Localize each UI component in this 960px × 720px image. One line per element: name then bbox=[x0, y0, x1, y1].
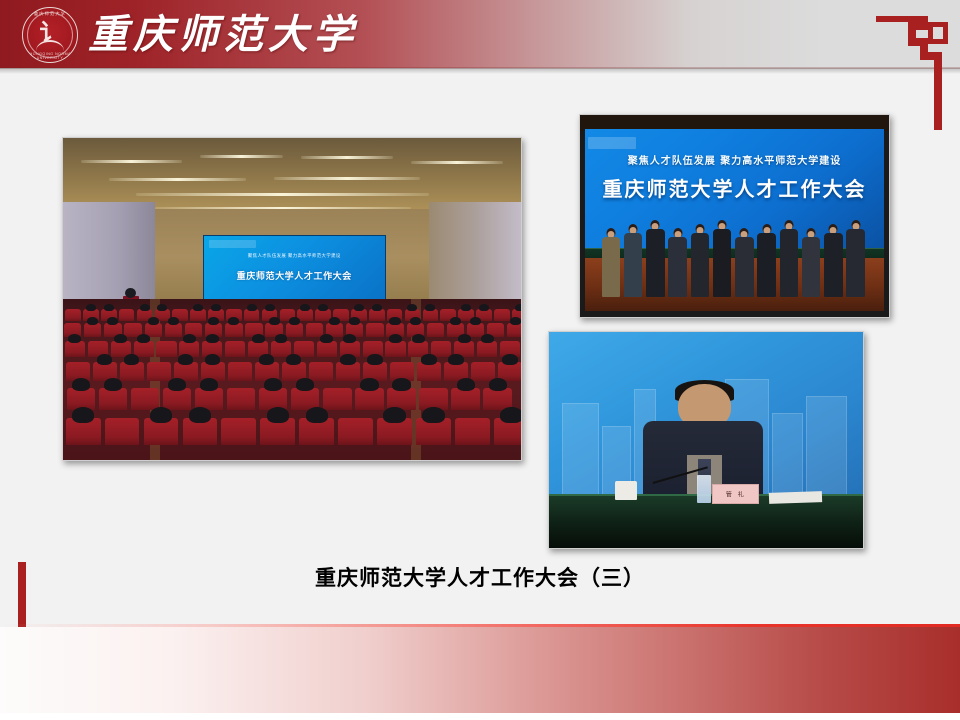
slide-caption: 重庆师范大学人才工作大会（三） bbox=[0, 562, 960, 592]
group-member-body bbox=[735, 237, 754, 297]
speaker-water-bottle bbox=[697, 475, 711, 503]
emblem-arc-top-text: 重庆师范大学 bbox=[23, 11, 77, 17]
group-member-body bbox=[624, 233, 643, 297]
attendee-head bbox=[425, 304, 435, 311]
hall-screen-subtitle: 聚焦人才队伍发展 聚力高水平师范大学建设 bbox=[204, 253, 385, 259]
attendee-head bbox=[189, 407, 211, 423]
attendee-head bbox=[320, 334, 333, 343]
attendee-head bbox=[68, 334, 81, 343]
attendee-head bbox=[252, 334, 265, 343]
attendee-head bbox=[389, 334, 402, 343]
auditorium-seat bbox=[156, 341, 176, 357]
attendee-head bbox=[228, 317, 239, 325]
group-member-body bbox=[824, 233, 843, 297]
attendee-head bbox=[470, 317, 481, 325]
photo-group[interactable]: 聚焦人才队伍发展 聚力高水平师范大学建设 重庆师范大学人才工作大会 bbox=[579, 114, 890, 318]
speaker-name-card: 管 礼 bbox=[712, 484, 759, 503]
auditorium-seat bbox=[309, 362, 333, 381]
auditorium-seat bbox=[317, 341, 337, 357]
group-member-body bbox=[802, 237, 821, 297]
photo-auditorium[interactable]: 聚焦人才队伍发展 聚力高水平师范大学建设 重庆师范大学人才工作大会 二〇二一年十… bbox=[62, 137, 522, 461]
group-member-body bbox=[713, 229, 732, 297]
group-member bbox=[780, 220, 799, 297]
group-member-body bbox=[691, 233, 710, 297]
attendee-head bbox=[269, 317, 280, 325]
attendee-head bbox=[422, 407, 444, 423]
group-member-body bbox=[846, 229, 865, 297]
attendee-head bbox=[104, 304, 114, 311]
hall-screen-logo-icon bbox=[209, 240, 256, 249]
speaker-name-card-text: 管 礼 bbox=[713, 490, 758, 499]
attendee-head bbox=[86, 304, 96, 311]
attendee-head bbox=[392, 378, 410, 391]
auditorium-seat bbox=[65, 309, 81, 321]
auditorium-seat bbox=[105, 418, 140, 445]
attendee-head bbox=[211, 304, 221, 311]
attendee-head bbox=[457, 378, 475, 391]
attendee-head bbox=[206, 334, 219, 343]
attendee-head bbox=[183, 334, 196, 343]
attendee-head bbox=[148, 317, 159, 325]
auditorium-seat bbox=[65, 341, 85, 357]
attendee-head bbox=[412, 334, 425, 343]
footer-band bbox=[0, 627, 960, 713]
auditorium-seat bbox=[228, 362, 252, 381]
attendee-head bbox=[448, 354, 463, 365]
top-right-corner-bracket-icon bbox=[876, 8, 956, 130]
speaker-tea-cup bbox=[615, 481, 637, 500]
emblem-arc-bottom-text: CHONGQING NORMAL UNIVERSITY bbox=[23, 52, 77, 60]
attendee-head bbox=[267, 407, 289, 423]
auditorium-seat bbox=[507, 323, 521, 337]
auditorium-seat bbox=[286, 323, 303, 337]
attendee-head bbox=[178, 354, 193, 365]
group-member bbox=[846, 220, 865, 297]
attendee-head bbox=[200, 378, 218, 391]
attendee-head bbox=[265, 304, 275, 311]
auditorium-seat bbox=[119, 309, 135, 321]
attendee-head bbox=[107, 317, 118, 325]
attendee-head bbox=[168, 317, 179, 325]
hall-screen-title: 重庆师范大学人才工作大会 bbox=[204, 269, 385, 282]
auditorium-seat bbox=[84, 323, 101, 337]
attendee-head bbox=[410, 317, 421, 325]
footer-bottom-edge bbox=[0, 713, 960, 720]
attendee-head bbox=[97, 354, 112, 365]
group-member bbox=[646, 220, 665, 297]
attendee-head bbox=[510, 317, 521, 325]
auditorium-seat bbox=[471, 362, 495, 381]
attendee-head bbox=[461, 304, 471, 311]
auditorium-seat bbox=[323, 388, 351, 411]
group-member bbox=[691, 224, 710, 297]
auditorium-seat bbox=[131, 388, 159, 411]
attendee-head bbox=[137, 334, 150, 343]
attendee-head bbox=[300, 304, 310, 311]
attendee-head bbox=[515, 304, 521, 311]
group-member bbox=[824, 224, 843, 297]
attendee-head bbox=[421, 354, 436, 365]
attendee-head bbox=[208, 317, 219, 325]
attendee-head bbox=[389, 317, 400, 325]
group-backdrop-title: 重庆师范大学人才工作大会 bbox=[585, 173, 885, 202]
attendee-head bbox=[318, 304, 328, 311]
attendee-head bbox=[286, 354, 301, 365]
attendee-head bbox=[275, 334, 288, 343]
auditorium-seat bbox=[225, 341, 245, 357]
attendee-head bbox=[329, 317, 340, 325]
photo-speaker[interactable]: 管 礼 bbox=[548, 331, 864, 549]
auditorium-seat bbox=[477, 341, 497, 357]
attendee-head bbox=[259, 354, 274, 365]
attendee-head bbox=[124, 354, 139, 365]
attendee-head bbox=[72, 407, 94, 423]
attendee-head bbox=[500, 407, 521, 423]
attendee-head bbox=[157, 304, 167, 311]
group-member bbox=[757, 224, 776, 297]
attendee-head bbox=[87, 317, 98, 325]
attendee-head bbox=[296, 378, 314, 391]
attendee-head bbox=[354, 304, 364, 311]
group-member-body bbox=[646, 229, 665, 297]
attendee-head bbox=[72, 378, 90, 391]
group-member-body bbox=[757, 233, 776, 297]
auditorium-seat bbox=[338, 418, 373, 445]
auditorium-seat bbox=[455, 418, 490, 445]
attendee-head bbox=[114, 334, 127, 343]
group-member bbox=[624, 224, 643, 297]
auditorium-seat bbox=[147, 362, 171, 381]
header-shadow bbox=[0, 68, 960, 74]
auditorium-seat bbox=[366, 323, 383, 337]
group-member-body bbox=[780, 229, 799, 297]
attendee-head bbox=[360, 378, 378, 391]
attendee-head bbox=[168, 378, 186, 391]
hall-audience-area bbox=[63, 299, 521, 460]
auditorium-seat bbox=[385, 341, 405, 357]
attendee-head bbox=[407, 304, 417, 311]
group-member bbox=[713, 220, 732, 297]
auditorium-seat bbox=[165, 323, 182, 337]
attendee-head bbox=[458, 334, 471, 343]
attendee-head bbox=[450, 317, 461, 325]
attendee-head bbox=[481, 334, 494, 343]
group-member-body bbox=[668, 237, 687, 297]
attendee-head bbox=[349, 317, 360, 325]
attendee-head bbox=[502, 354, 517, 365]
group-backdrop-logo-icon bbox=[588, 137, 636, 149]
auditorium-seat bbox=[227, 388, 255, 411]
attendee-head bbox=[264, 378, 282, 391]
auditorium-seat bbox=[225, 323, 242, 337]
auditorium-seat bbox=[221, 418, 256, 445]
attendee-head bbox=[383, 407, 405, 423]
attendee-head bbox=[343, 334, 356, 343]
attendee-head bbox=[306, 407, 328, 423]
brand-title: 重庆师范大学 bbox=[88, 6, 358, 64]
group-member bbox=[668, 228, 687, 297]
attendee-head bbox=[489, 378, 507, 391]
attendee-head bbox=[140, 304, 150, 311]
attendee-head bbox=[372, 304, 382, 311]
attendee-head bbox=[479, 304, 489, 311]
auditorium-seat bbox=[427, 323, 444, 337]
attendee-head bbox=[193, 304, 203, 311]
attendee-head bbox=[104, 378, 122, 391]
group-member bbox=[602, 228, 621, 297]
university-emblem-icon: 重庆师范大学 讠 CHONGQING NORMAL UNIVERSITY bbox=[22, 7, 78, 63]
attendee-head bbox=[247, 304, 257, 311]
group-member bbox=[735, 228, 754, 297]
attendee-head bbox=[150, 407, 172, 423]
group-member-body bbox=[602, 237, 621, 297]
attendee-head bbox=[340, 354, 355, 365]
attendee-head bbox=[205, 354, 220, 365]
attendee-head bbox=[289, 317, 300, 325]
group-member bbox=[802, 228, 821, 297]
group-backdrop-subtitle: 聚焦人才队伍发展 聚力高水平师范大学建设 bbox=[585, 152, 885, 167]
speaker-documents bbox=[769, 491, 823, 504]
auditorium-seat bbox=[494, 309, 510, 321]
slide-canvas: 重庆师范大学 讠 CHONGQING NORMAL UNIVERSITY 重庆师… bbox=[0, 0, 960, 720]
attendee-head bbox=[367, 354, 382, 365]
